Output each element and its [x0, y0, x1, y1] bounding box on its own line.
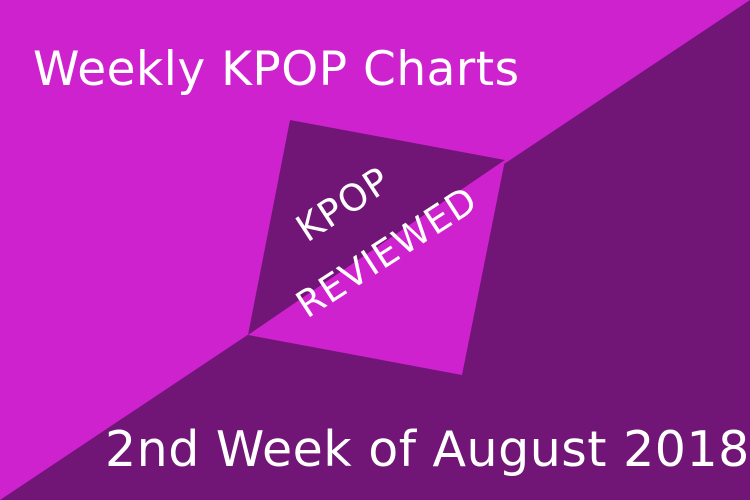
banner-subtitle: 2nd Week of August 2018	[105, 423, 750, 477]
banner-title: Weekly KPOP Charts	[33, 44, 520, 96]
kpop-charts-banner: KPOP REVIEWED Weekly KPOP Charts 2nd Wee…	[0, 0, 750, 500]
kpop-reviewed-logo: KPOP REVIEWED	[248, 120, 505, 375]
